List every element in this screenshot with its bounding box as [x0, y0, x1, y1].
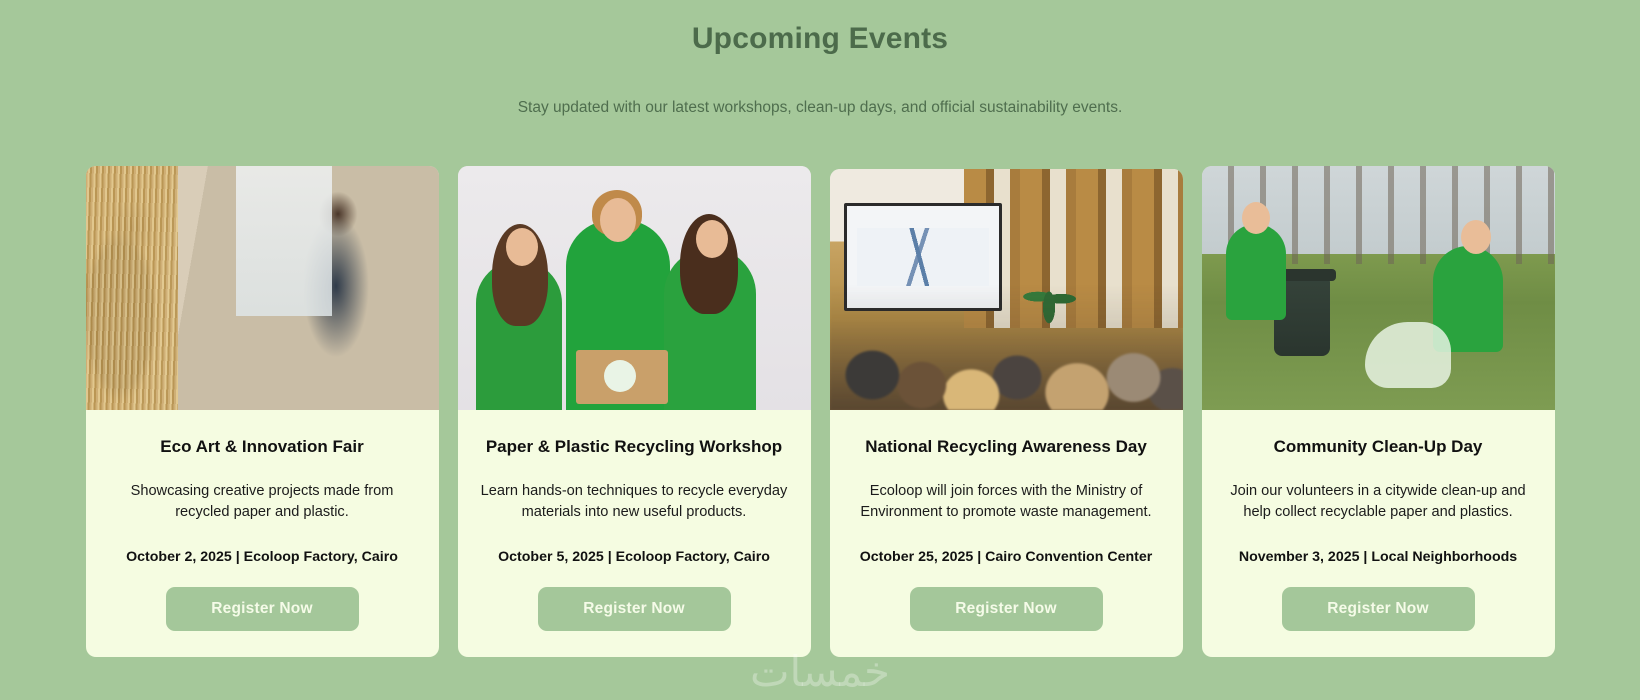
event-card[interactable]: Paper & Plastic Recycling Workshop Learn… [458, 166, 811, 657]
event-card-date-location: October 5, 2025 | Ecoloop Factory, Cairo [480, 549, 789, 565]
event-card-media [1202, 166, 1555, 410]
event-card-title: Community Clean-Up Day [1224, 436, 1533, 457]
event-card-body: Paper & Plastic Recycling Workshop Learn… [458, 410, 811, 657]
section-header: Upcoming Events Stay updated with our la… [0, 0, 1640, 117]
event-card-date-location: November 3, 2025 | Local Neighborhoods [1224, 549, 1533, 565]
event-card-title: Paper & Plastic Recycling Workshop [480, 436, 789, 457]
audience-crowd [830, 285, 1183, 410]
event-card-title: Eco Art & Innovation Fair [108, 436, 417, 457]
event-card-description: Showcasing creative projects made from r… [108, 481, 417, 522]
event-card-date-location: October 2, 2025 | Ecoloop Factory, Cairo [108, 549, 417, 565]
event-card-description: Join our volunteers in a citywide clean-… [1224, 481, 1533, 522]
event-cards-row: Eco Art & Innovation Fair Showcasing cre… [0, 166, 1640, 657]
event-card-date-location: October 25, 2025 | Cairo Convention Cent… [852, 549, 1161, 565]
eco-art-workshop-photo [86, 166, 439, 410]
event-card[interactable]: Community Clean-Up Day Join our voluntee… [1202, 166, 1555, 657]
event-card-media [458, 166, 811, 410]
event-card-cta: Register Now [480, 587, 789, 631]
event-card[interactable]: National Recycling Awareness Day Ecoloop… [830, 169, 1183, 657]
event-card-media [86, 166, 439, 410]
register-now-button[interactable]: Register Now [166, 587, 359, 631]
event-card-body: National Recycling Awareness Day Ecoloop… [830, 410, 1183, 657]
community-cleanup-photo [1202, 166, 1555, 410]
event-card-body: Eco Art & Innovation Fair Showcasing cre… [86, 410, 439, 657]
event-card-description: Ecoloop will join forces with the Minist… [852, 481, 1161, 522]
upcoming-events-section: Upcoming Events Stay updated with our la… [0, 0, 1640, 700]
event-card-cta: Register Now [1224, 587, 1533, 631]
event-card-cta: Register Now [108, 587, 417, 631]
event-card-media [830, 169, 1183, 410]
register-now-button[interactable]: Register Now [910, 587, 1103, 631]
conference-audience-photo [830, 169, 1183, 410]
event-card[interactable]: Eco Art & Innovation Fair Showcasing cre… [86, 166, 439, 657]
page-title: Upcoming Events [0, 22, 1640, 56]
recycling-bag [1365, 322, 1451, 388]
section-subtitle: Stay updated with our latest workshops, … [0, 99, 1640, 117]
event-card-cta: Register Now [852, 587, 1161, 631]
event-card-description: Learn hands-on techniques to recycle eve… [480, 481, 789, 522]
register-now-button[interactable]: Register Now [538, 587, 731, 631]
event-card-body: Community Clean-Up Day Join our voluntee… [1202, 410, 1555, 657]
event-card-title: National Recycling Awareness Day [852, 436, 1161, 457]
volunteer-left [1226, 224, 1286, 320]
register-now-button[interactable]: Register Now [1282, 587, 1475, 631]
recycling-volunteers-photo [458, 166, 811, 410]
